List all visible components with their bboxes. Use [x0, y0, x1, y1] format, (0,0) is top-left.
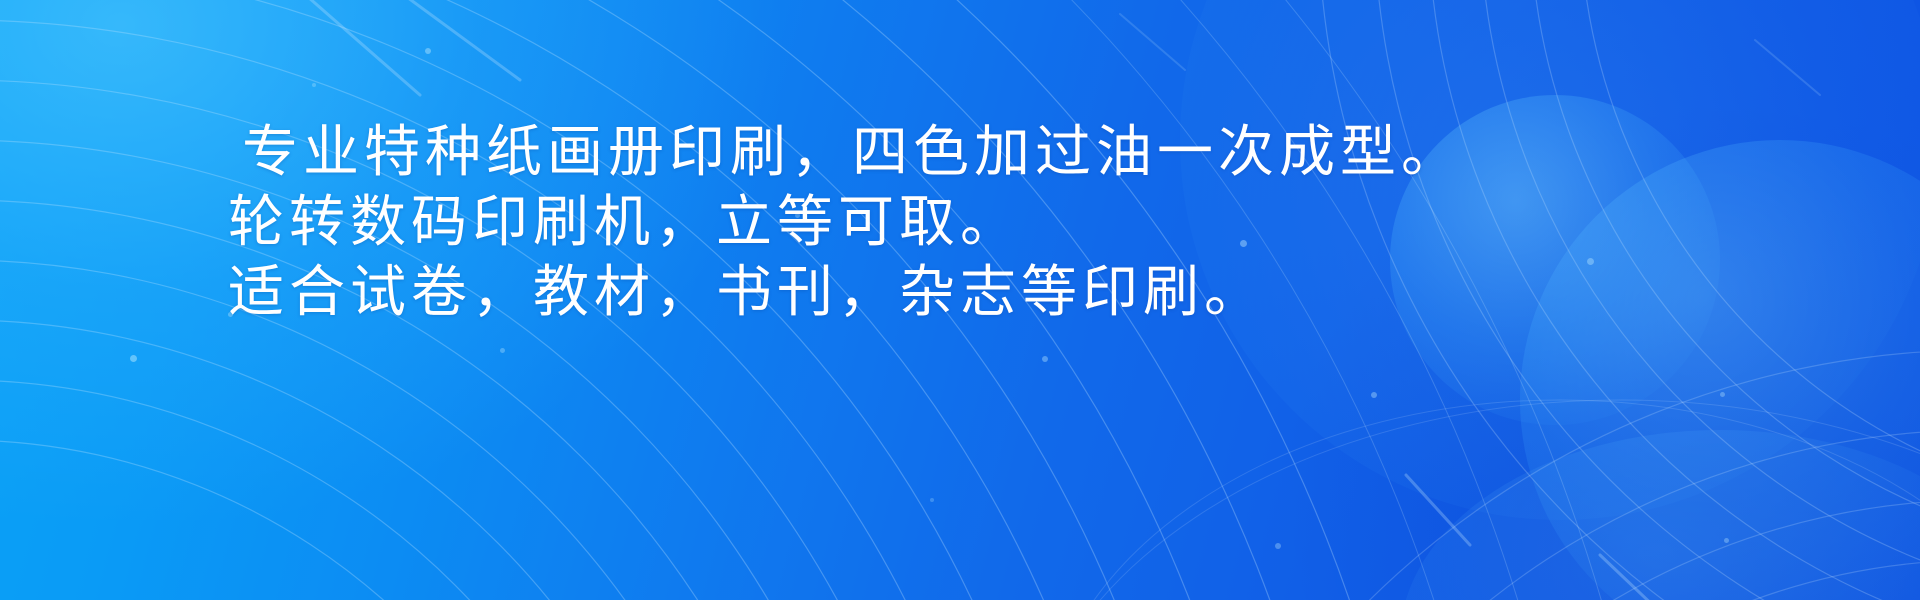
decor-dot [1720, 392, 1725, 397]
decor-dot [500, 348, 505, 353]
decor-dot [1042, 356, 1048, 362]
decor-dot [930, 498, 934, 502]
decor-dot [1275, 543, 1281, 549]
headline-line-1: 专业特种纸画册印刷，四色加过油一次成型。 [228, 118, 1788, 188]
decor-dot [130, 355, 137, 362]
promo-banner: 专业特种纸画册印刷，四色加过油一次成型。 轮转数码印刷机，立等可取。 适合试卷，… [0, 0, 1920, 600]
decor-blob-lower [1400, 430, 1920, 600]
headline-line-2: 轮转数码印刷机，立等可取。 [228, 188, 1788, 258]
headline-line-3: 适合试卷，教材，书刊，杂志等印刷。 [228, 258, 1788, 328]
decor-dot [425, 48, 431, 54]
decor-dot [1724, 538, 1729, 543]
headline-block: 专业特种纸画册印刷，四色加过油一次成型。 轮转数码印刷机，立等可取。 适合试卷，… [228, 118, 1788, 328]
decor-dot [312, 83, 316, 87]
decor-dot [1371, 392, 1377, 398]
